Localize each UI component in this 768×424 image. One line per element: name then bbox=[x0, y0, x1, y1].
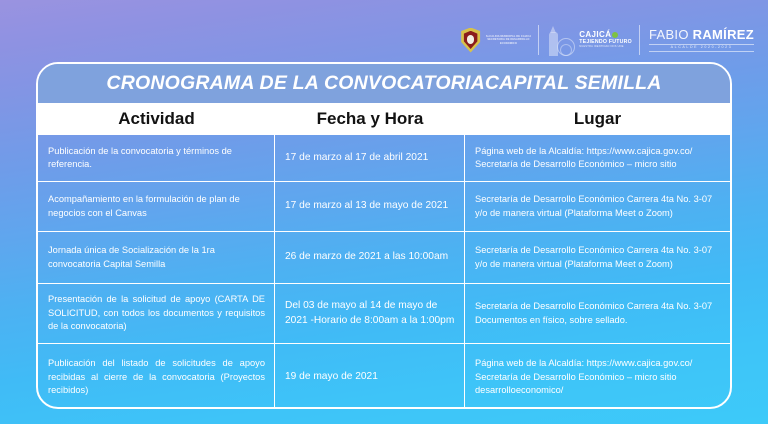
government-emblem-text: ALCALDIA MUNICIPAL DE CAJICA SECRETARIA … bbox=[486, 35, 532, 45]
card-title-bar: CRONOGRAMA DE LA CONVOCATORIACAPITAL SEM… bbox=[38, 64, 730, 103]
table-header-row: Actividad Fecha y Hora Lugar bbox=[38, 103, 730, 135]
cell-fecha: Del 03 de mayo al 14 de mayo de 2021 -Ho… bbox=[275, 284, 465, 343]
gov-line-3: ECONOMICO bbox=[486, 42, 532, 45]
column-header-lugar: Lugar bbox=[465, 109, 730, 129]
cell-actividad: Jornada única de Socialización de la 1ra… bbox=[38, 232, 275, 283]
mayor-last-name: RAMÍREZ bbox=[693, 27, 754, 42]
cell-lugar: Secretaría de Desarrollo Económico Carre… bbox=[465, 182, 730, 231]
cell-actividad: Presentación de la solicitud de apoyo (C… bbox=[38, 284, 275, 343]
table-body: Publicación de la convocatoria y término… bbox=[38, 135, 730, 409]
column-header-fecha: Fecha y Hora bbox=[275, 109, 465, 129]
cell-lugar: Secretaría de Desarrollo Económico Carre… bbox=[465, 232, 730, 283]
cell-lugar: Secretaría de Desarrollo Económico Carre… bbox=[465, 284, 730, 343]
mayor-period: ALCALDE 2020-2023 bbox=[649, 44, 754, 53]
cell-fecha: 17 de marzo al 13 de mayo de 2021 bbox=[275, 182, 465, 231]
table-row: Jornada única de Socialización de la 1ra… bbox=[38, 231, 730, 283]
cell-lugar: Página web de la Alcaldía: https://www.c… bbox=[465, 135, 730, 181]
shield-emblem-icon bbox=[460, 28, 482, 53]
cell-fecha: 17 de marzo al 17 de abril 2021 bbox=[275, 135, 465, 181]
cajica-subline: NUESTRA IDENTIDAD NOS UNE bbox=[579, 46, 632, 49]
cajica-accent-dot-icon bbox=[612, 32, 618, 38]
cell-actividad: Acompañamiento en la formulación de plan… bbox=[38, 182, 275, 231]
cell-fecha: 19 de mayo de 2021 bbox=[275, 344, 465, 409]
header-logo-strip: ALCALDIA MUNICIPAL DE CAJICA SECRETARIA … bbox=[0, 20, 768, 60]
cell-lugar: Página web de la Alcaldía: https://www.c… bbox=[465, 344, 730, 409]
mayor-first-name: FABIO bbox=[649, 27, 689, 42]
government-emblem-block: ALCALDIA MUNICIPAL DE CAJICA SECRETARIA … bbox=[460, 21, 532, 59]
schedule-card: CRONOGRAMA DE LA CONVOCATORIACAPITAL SEM… bbox=[36, 62, 732, 409]
table-row: Acompañamiento en la formulación de plan… bbox=[38, 181, 730, 231]
logo-divider-1 bbox=[538, 25, 539, 55]
mayor-brand-block: FABIO RAMÍREZ ALCALDE 2020-2023 bbox=[649, 28, 754, 53]
table-row: Publicación del listado de solicitudes d… bbox=[38, 343, 730, 409]
page-title: CRONOGRAMA DE LA CONVOCATORIACAPITAL SEM… bbox=[106, 72, 661, 95]
logo-divider-2 bbox=[639, 25, 640, 55]
table-row: Publicación de la convocatoria y término… bbox=[38, 135, 730, 181]
cell-actividad: Publicación del listado de solicitudes d… bbox=[38, 344, 275, 409]
cajica-brand-block: CAJICÁ TEJIENDO FUTURO NUESTRA IDENTIDAD… bbox=[546, 21, 632, 59]
cell-actividad: Publicación de la convocatoria y término… bbox=[38, 135, 275, 181]
column-header-actividad: Actividad bbox=[38, 109, 275, 129]
table-row: Presentación de la solicitud de apoyo (C… bbox=[38, 283, 730, 343]
cell-fecha: 26 de marzo de 2021 a las 10:00am bbox=[275, 232, 465, 283]
cajica-monument-icon bbox=[546, 24, 576, 56]
